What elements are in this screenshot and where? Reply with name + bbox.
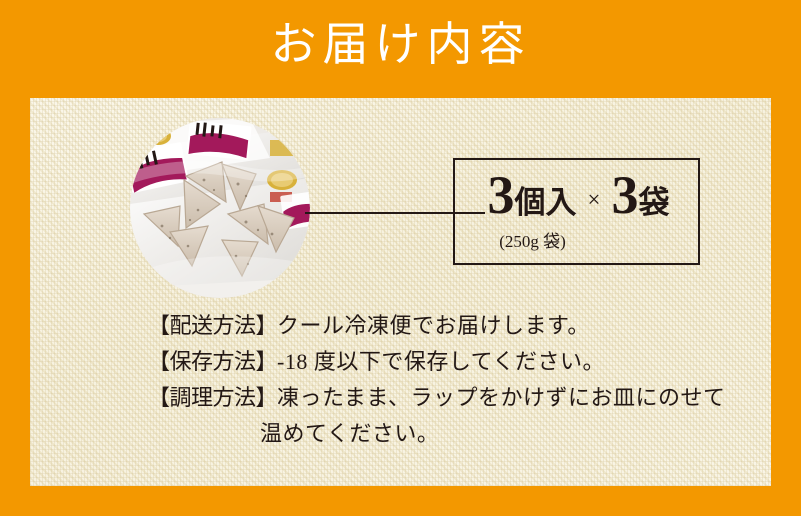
delivery-info-banner: お届け内容: [0, 0, 801, 516]
info-text-storage: -18 度以下で保存してください。: [277, 349, 605, 374]
bags-unit: 袋: [638, 187, 669, 218]
info-line-shipping: 【配送方法】クール冷凍便でお届けします。: [148, 308, 758, 344]
quantity-callout-box: 3 個入 × 3 袋 (250g 袋): [453, 158, 700, 265]
info-line-cooking: 【調理方法】凍ったまま、ラップをかけずにお皿にのせて 温めてください。: [148, 380, 758, 452]
product-photo-illustration: [130, 118, 310, 298]
multiply-icon: ×: [588, 188, 601, 211]
info-label-storage: 【保存方法】: [148, 349, 277, 374]
info-text-cooking: 凍ったまま、ラップをかけずにお皿にのせて: [277, 385, 725, 410]
product-photo: [130, 118, 310, 298]
quantity-sub-note: (250g 袋): [455, 232, 702, 252]
info-line-storage: 【保存方法】-18 度以下で保存してください。: [148, 344, 758, 380]
info-list: 【配送方法】クール冷凍便でお届けします。 【保存方法】-18 度以下で保存してく…: [148, 308, 758, 452]
content-panel: 3 個入 × 3 袋 (250g 袋) 【配送方法】クール冷凍便でお届けします。…: [30, 98, 771, 486]
info-text-shipping: クール冷凍便でお届けします。: [277, 313, 590, 338]
page-title: お届け内容: [0, 16, 801, 74]
info-label-cooking: 【調理方法】: [148, 385, 277, 410]
bags-value: 3: [611, 168, 638, 222]
info-text-cooking-continued: 温めてください。: [148, 416, 758, 452]
quantity-row: 3 個入 × 3 袋: [455, 168, 702, 230]
count-unit: 個入: [515, 187, 577, 218]
count-value: 3: [488, 168, 515, 222]
info-label-shipping: 【配送方法】: [148, 313, 277, 338]
